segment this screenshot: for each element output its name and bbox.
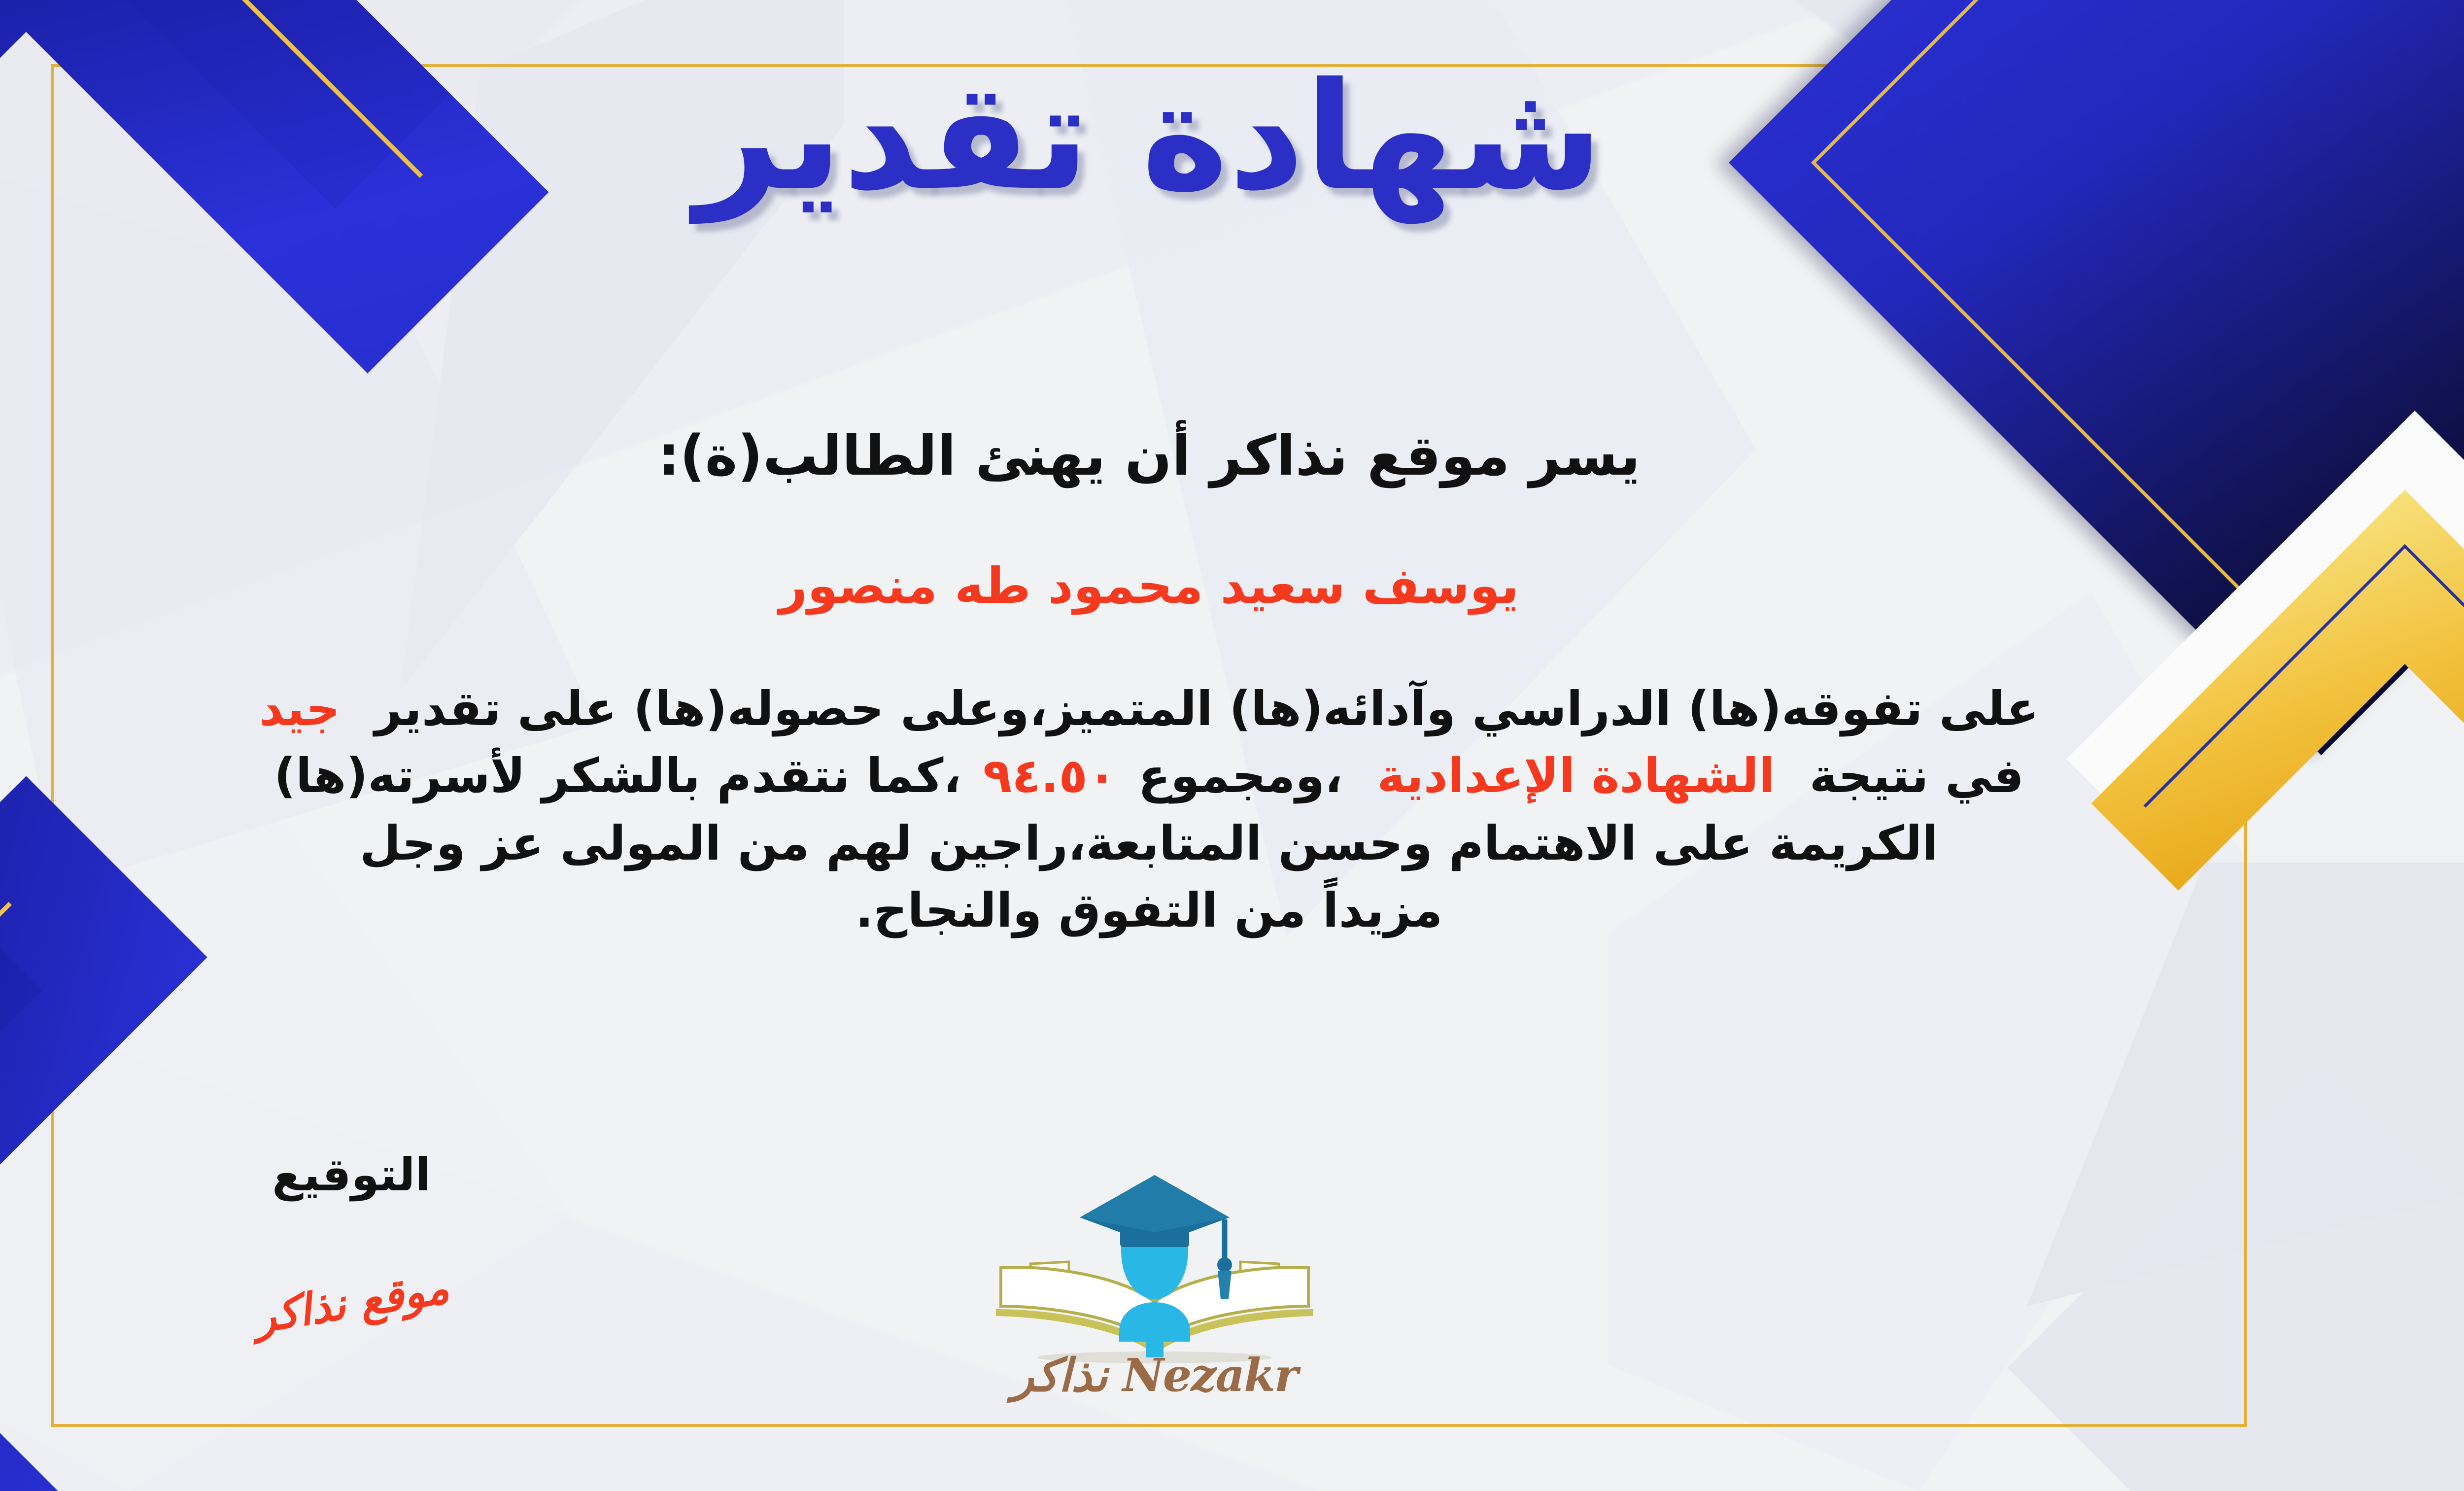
- total-score: ٩٤.٥٠: [983, 748, 1117, 803]
- logo-arabic: نذاكر: [1012, 1349, 1108, 1402]
- student-name: يوسف سعيد محمود طه منصور: [0, 557, 2464, 615]
- body-line-4-mid: ،ومجموع: [1138, 748, 1343, 803]
- body-line-4: في نتيجةالشهادة الإعدادية،ومجموع٩٤.٥٠،كم…: [66, 742, 2232, 809]
- logo-wordmark: Nezakr نذاكر: [972, 1349, 1337, 1402]
- certificate-title: شهادة تقدير: [0, 59, 2464, 214]
- body-line-3-text: على تفوقه(ها) الدراسي وآدائه(ها) المتميز…: [375, 681, 2039, 736]
- body-line-4-prefix: في نتيجة: [1810, 748, 2024, 803]
- exam-name: الشهادة الإعدادية: [1377, 748, 1775, 803]
- body-line-6: مزيداً من التفوق والنجاح.: [66, 877, 2232, 944]
- grade-value: جيد: [259, 681, 340, 736]
- certificate-sheet: شهادة تقدير يسر موقع نذاكر أن يهنئ الطال…: [0, 0, 2464, 1491]
- body-line-4-suffix: ،كما نتقدم بالشكر لأسرته(ها): [274, 748, 961, 803]
- greeting-line: يسر موقع نذاكر أن يهنئ الطالب(ة):: [0, 424, 2464, 488]
- certificate-body: على تفوقه(ها) الدراسي وآدائه(ها) المتميز…: [66, 675, 2232, 944]
- logo-latin: Nezakr: [1123, 1349, 1298, 1402]
- body-line-3: على تفوقه(ها) الدراسي وآدائه(ها) المتميز…: [66, 675, 2232, 742]
- tassel-knot: [1217, 1257, 1232, 1272]
- certificate-content: شهادة تقدير يسر موقع نذاكر أن يهنئ الطال…: [0, 0, 2464, 1491]
- signature-handwriting: موقع نذاكر: [172, 1249, 530, 1355]
- signature-label: التوقيع: [179, 1148, 524, 1201]
- body-line-5: الكريمة على الاهتمام وحسن المتابعة،راجين…: [66, 810, 2232, 877]
- nezakr-logo: Nezakr نذاكر: [972, 1129, 1337, 1405]
